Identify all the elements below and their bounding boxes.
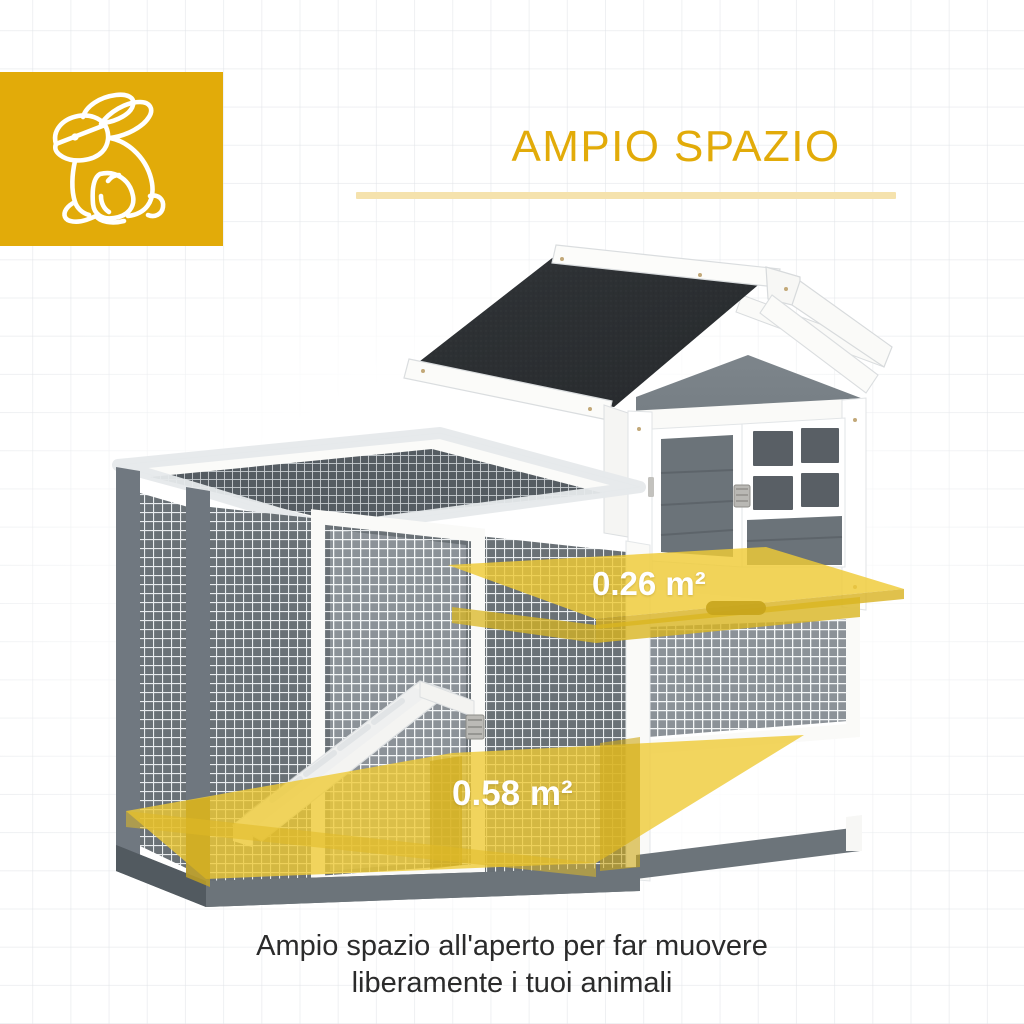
metal-hinge xyxy=(466,715,484,739)
caption-block: Ampio spazio all'aperto per far muovere … xyxy=(112,928,912,1002)
area-label-upper: 0.26 m² xyxy=(592,565,706,603)
rabbit-icon xyxy=(38,90,184,230)
metal-hinge xyxy=(734,485,750,507)
title-divider-rule xyxy=(356,192,896,199)
caption-line-2: liberamente i tuoi animali xyxy=(112,965,912,1002)
page-title: AMPIO SPAZIO xyxy=(356,122,996,172)
area-label-lower: 0.58 m² xyxy=(452,774,573,814)
caption-line-1: Ampio spazio all'aperto per far muovere xyxy=(112,928,912,965)
